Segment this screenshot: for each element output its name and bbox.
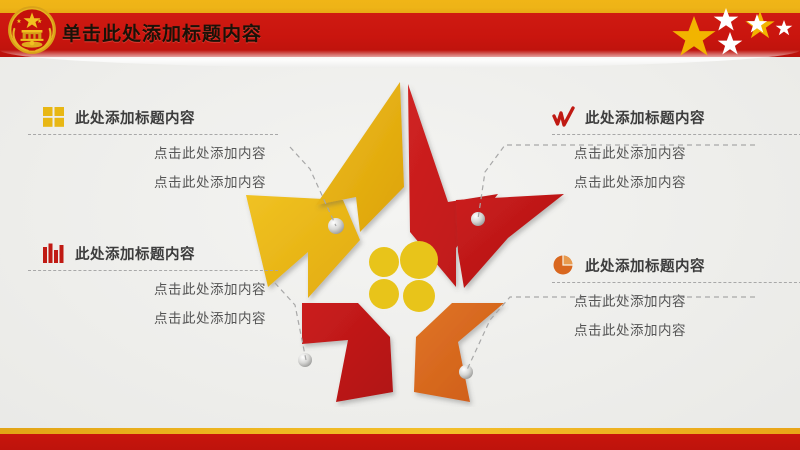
header-star-cluster <box>660 2 800 58</box>
info-header: 此处添加标题内容 <box>28 104 278 130</box>
checkmark-icon <box>552 106 576 128</box>
info-header: 此处添加标题内容 <box>552 252 800 278</box>
info-line: 点击此处添加内容 <box>574 319 686 339</box>
info-line: 点击此处添加内容 <box>154 307 266 327</box>
info-block-bottom-right[interactable]: 此处添加标题内容 点击此处添加内容 点击此处添加内容 <box>552 252 800 339</box>
info-header: 此处添加标题内容 <box>552 104 800 130</box>
info-block-bottom-left[interactable]: 此处添加标题内容 点击此处添加内容 点击此处添加内容 <box>28 240 278 327</box>
star-white-small-2 <box>718 32 743 55</box>
star-segment-lower-left <box>302 303 393 402</box>
info-body: 点击此处添加内容 点击此处添加内容 <box>552 290 800 339</box>
info-body: 点击此处添加内容 点击此处添加内容 <box>552 142 800 191</box>
star-white-tiny <box>776 20 793 35</box>
info-divider <box>28 134 278 135</box>
info-block-top-left[interactable]: 此处添加标题内容 点击此处添加内容 点击此处添加内容 <box>28 104 278 191</box>
china-national-emblem-icon <box>6 4 58 56</box>
info-divider <box>552 134 800 135</box>
star-white-small-1 <box>714 8 739 31</box>
info-divider <box>552 282 800 283</box>
info-line: 点击此处添加内容 <box>154 278 266 298</box>
star-segment-lower-right <box>414 303 504 402</box>
info-line: 点击此处添加内容 <box>154 142 266 162</box>
slide-title: 单击此处添加标题内容 <box>62 19 262 46</box>
marker-top-right <box>471 212 485 226</box>
info-divider <box>28 270 278 271</box>
info-line: 点击此处添加内容 <box>154 171 266 191</box>
info-title: 此处添加标题内容 <box>75 243 195 264</box>
info-body: 点击此处添加内容 点击此处添加内容 <box>28 278 278 327</box>
pie-chart-icon <box>552 254 576 276</box>
info-body: 点击此处添加内容 点击此处添加内容 <box>28 142 278 191</box>
grid-squares-icon <box>42 106 66 128</box>
info-line: 点击此处添加内容 <box>574 142 686 162</box>
marker-bottom-left <box>298 353 312 367</box>
info-title: 此处添加标题内容 <box>75 107 195 128</box>
marker-top-left <box>328 218 344 234</box>
info-header: 此处添加标题内容 <box>28 240 278 266</box>
footer-red-bar <box>0 434 800 450</box>
info-title: 此处添加标题内容 <box>585 255 705 276</box>
info-title: 此处添加标题内容 <box>585 107 705 128</box>
presentation-slide: 单击此处添加标题内容 <box>0 0 800 450</box>
star-segment-right-flank <box>456 194 564 288</box>
marker-bottom-right <box>459 365 473 379</box>
info-line: 点击此处添加内容 <box>574 290 686 310</box>
bar-chart-icon <box>42 242 66 264</box>
center-dot-cluster <box>369 241 438 312</box>
info-block-top-right[interactable]: 此处添加标题内容 点击此处添加内容 点击此处添加内容 <box>552 104 800 191</box>
info-line: 点击此处添加内容 <box>574 171 686 191</box>
star-yellow-large <box>672 16 715 56</box>
